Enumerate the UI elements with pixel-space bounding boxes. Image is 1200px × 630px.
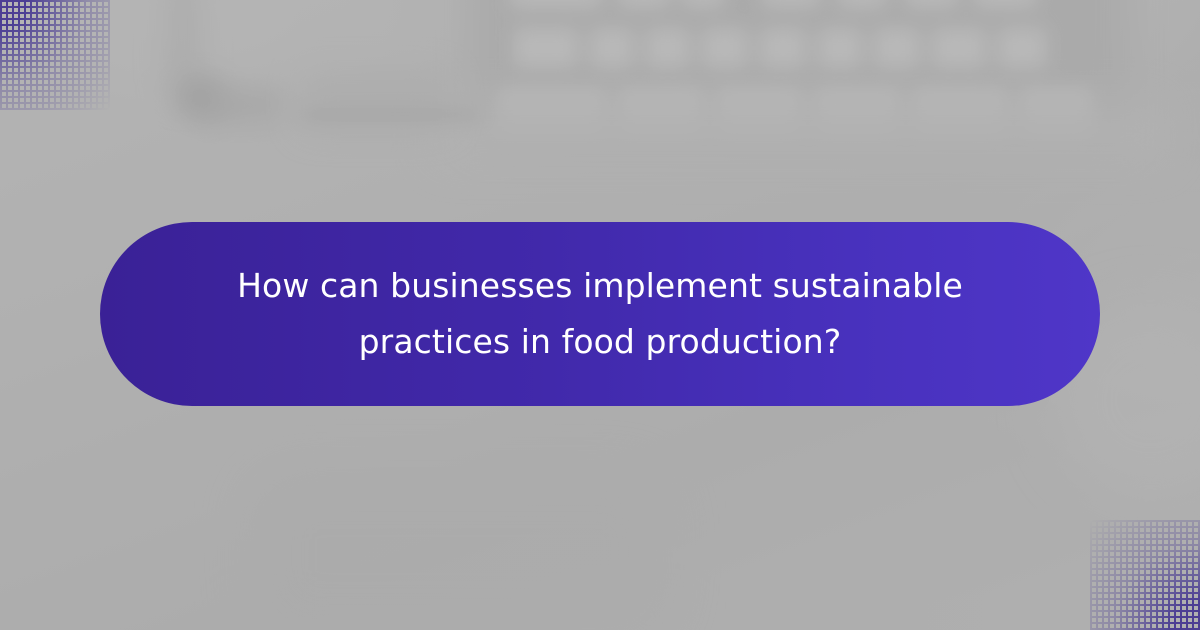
- top-left-dot-pattern-icon: [0, 0, 110, 110]
- page-title: How can businesses implement sustainable…: [220, 258, 980, 370]
- bottom-right-dot-pattern-icon: [1090, 520, 1200, 630]
- social-card-canvas: How can businesses implement sustainable…: [0, 0, 1200, 630]
- headline-pill: How can businesses implement sustainable…: [100, 222, 1100, 406]
